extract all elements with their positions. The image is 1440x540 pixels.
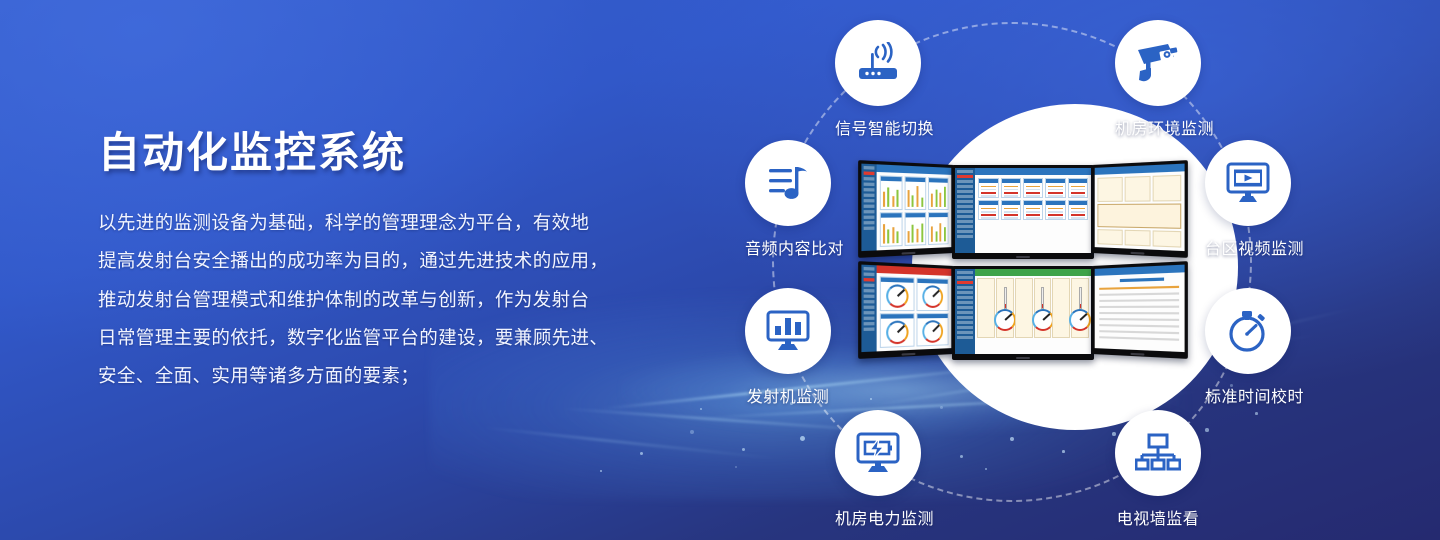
sensor-label — [1015, 278, 1033, 338]
sidebar-tick — [957, 316, 973, 319]
monitor-top-center — [952, 165, 1094, 259]
gauge-card — [879, 313, 914, 348]
sidebar-tick — [957, 326, 973, 329]
sidebar-tick — [957, 185, 973, 188]
status-card — [1001, 200, 1021, 220]
monitor-screen — [955, 269, 1091, 354]
flow-node — [1097, 177, 1122, 202]
screen-sidebar — [955, 168, 975, 253]
sidebar-tick — [957, 286, 973, 289]
description-line: 安全、全面、实用等诸多方面的要素； — [98, 357, 708, 395]
sidebar-tick — [864, 322, 874, 325]
sidebar-tick — [957, 225, 973, 228]
background-particle — [690, 430, 694, 434]
gauge-dial — [922, 320, 943, 343]
sidebar-tick — [957, 230, 973, 233]
hero-text-column: 自动化监控系统 以先进的监测设备为基础，科学的管理理念为平台，有效地 提高发射台… — [98, 130, 708, 396]
sidebar-tick — [957, 220, 973, 223]
feature-icon-circle[interactable] — [835, 20, 921, 106]
sidebar-tick — [957, 195, 973, 198]
status-card — [1045, 178, 1065, 198]
thermometer-icon — [1041, 287, 1044, 309]
screen-body — [876, 172, 951, 251]
monitor-stand — [902, 353, 916, 356]
feature-item-area-video[interactable]: 台区视频监测 — [1205, 140, 1291, 259]
monitor-top-left — [858, 160, 954, 258]
stopwatch-icon — [1225, 308, 1271, 354]
sidebar-tick — [864, 300, 874, 303]
feature-icon-circle[interactable] — [1205, 140, 1291, 226]
page-title: 自动化监控系统 — [98, 130, 708, 176]
flow-node — [1124, 230, 1151, 246]
gauge-dial — [922, 285, 943, 308]
hero-description: 以先进的监测设备为基础，科学的管理理念为平台，有效地 提高发射台安全播出的成功率… — [98, 204, 708, 395]
status-card — [1001, 178, 1021, 198]
monitor-screen — [861, 265, 951, 352]
screen-body — [975, 276, 1091, 354]
status-card — [1068, 200, 1088, 220]
sidebar-tick — [864, 306, 874, 309]
sidebar-tick — [957, 175, 973, 178]
background-particle — [640, 452, 643, 455]
chart-grid — [876, 172, 951, 251]
gauge-dial — [1069, 309, 1091, 331]
video-monitor-icon — [1225, 161, 1271, 205]
sensor-column — [996, 278, 1014, 338]
gauge-dial — [994, 309, 1016, 331]
sidebar-tick — [957, 321, 973, 324]
chart-card — [879, 175, 902, 210]
monitor-top-right — [1092, 160, 1188, 258]
sidebar-tick — [864, 171, 874, 175]
feature-label: 音频内容比对 — [745, 235, 831, 259]
sensor-panel — [975, 276, 1091, 340]
screen-body — [1095, 272, 1185, 352]
sidebar-tick — [864, 177, 874, 181]
sidebar-tick — [864, 166, 874, 170]
sidebar-tick — [957, 200, 973, 203]
sidebar-tick — [864, 327, 874, 331]
sensor-label — [977, 278, 995, 338]
cctv-camera-icon — [1134, 41, 1182, 85]
status-card — [1068, 178, 1088, 198]
screen-body — [1095, 171, 1185, 251]
status-card — [1023, 178, 1043, 198]
sidebar-tick — [864, 210, 874, 213]
report-table — [1095, 272, 1185, 345]
sidebar-tick — [957, 271, 973, 274]
sidebar-tick — [864, 283, 874, 287]
sidebar-tick — [864, 199, 874, 202]
chart-card — [904, 176, 926, 210]
gauge-card — [916, 313, 948, 347]
monitor-bottom-right — [1092, 261, 1188, 359]
status-card — [1023, 200, 1043, 220]
sidebar-tick — [957, 190, 973, 193]
feature-label: 电视墙监看 — [1115, 505, 1201, 529]
sidebar-tick — [957, 331, 973, 334]
status-card — [978, 178, 998, 198]
background-particle — [600, 470, 602, 472]
screen-body — [975, 175, 1091, 253]
sidebar-tick — [957, 210, 973, 213]
chart-card — [928, 212, 949, 245]
description-line: 提高发射台安全播出的成功率为目的，通过先进技术的应用， — [98, 242, 708, 280]
flow-canvas — [1097, 203, 1181, 229]
feature-item-audio-compare[interactable]: 音频内容比对 — [745, 140, 831, 259]
description-line: 推动发射台管理模式和维护体制的改革与创新，作为发射台 — [98, 281, 708, 319]
sidebar-tick — [957, 291, 973, 294]
sensor-column — [1071, 278, 1089, 338]
sidebar-tick — [957, 205, 973, 208]
thermometer-icon — [1079, 287, 1082, 309]
feature-label: 机房电力监测 — [835, 505, 921, 529]
monitor-stand — [1130, 252, 1144, 255]
flow-node — [1153, 175, 1181, 201]
feature-item-room-power[interactable]: 机房电力监测 — [835, 410, 921, 529]
feature-item-signal-switch[interactable]: 信号智能切换 — [835, 20, 921, 139]
feature-icon-circle[interactable] — [1205, 288, 1291, 374]
sidebar-tick — [864, 226, 874, 230]
monitor-screen — [1095, 164, 1185, 251]
chart-card — [879, 212, 902, 247]
monitor-stand — [1016, 256, 1030, 258]
chart-card — [904, 212, 926, 246]
sidebar-tick — [957, 235, 973, 238]
description-line: 日常管理主要的依托，数字化监管平台的建设，要兼顾先进、 — [98, 319, 708, 357]
wireless-router-icon — [855, 42, 901, 84]
status-card — [978, 200, 998, 220]
sidebar-tick — [864, 272, 874, 276]
sidebar-tick — [864, 317, 874, 320]
chart-card — [928, 177, 949, 210]
device-status-grid — [975, 175, 1091, 223]
description-line: 以先进的监测设备为基础，科学的管理理念为平台，有效地 — [98, 204, 708, 242]
sidebar-tick — [864, 295, 874, 298]
sidebar-tick — [864, 216, 874, 219]
feature-icon-circle[interactable] — [745, 140, 831, 226]
gauge-dial — [886, 320, 908, 344]
feature-item-room-environment[interactable]: 机房环境监测 — [1115, 20, 1201, 139]
video-wall-row-top — [858, 165, 1188, 259]
status-card — [1045, 200, 1065, 220]
feature-label: 标准时间校时 — [1205, 383, 1291, 407]
feature-icon-circle[interactable] — [1115, 410, 1201, 496]
gauge-card — [879, 276, 914, 311]
sidebar-tick — [864, 278, 874, 282]
monitor-stand — [1016, 357, 1030, 359]
screen-body — [876, 273, 951, 352]
screen-sidebar — [861, 164, 876, 251]
power-monitor-icon — [855, 431, 901, 475]
feature-label: 机房环境监测 — [1115, 115, 1201, 139]
sidebar-tick — [957, 281, 973, 284]
sidebar-tick — [957, 311, 973, 314]
monitor-screen — [861, 164, 951, 251]
screen-titlebar — [975, 168, 1091, 175]
feature-item-transmitter-monitor[interactable]: 发射机监测 — [745, 288, 831, 407]
sidebar-tick — [957, 306, 973, 309]
sidebar-tick — [864, 188, 874, 192]
sidebar-tick — [957, 215, 973, 218]
thermometer-icon — [1004, 287, 1007, 309]
feature-label: 发射机监测 — [745, 383, 831, 407]
feature-icon-circle[interactable] — [745, 288, 831, 374]
sensor-column — [1034, 278, 1052, 338]
flow-diagram — [1095, 171, 1185, 251]
feature-wheel: 信号智能切换 机房环境监测 — [700, 0, 1440, 540]
bar-chart-monitor-icon — [765, 309, 811, 353]
music-note-icon — [766, 161, 810, 205]
sidebar-tick — [957, 296, 973, 299]
screen-sidebar — [955, 269, 975, 354]
screen-sidebar — [861, 265, 876, 352]
sidebar-tick — [957, 170, 973, 173]
feature-label: 信号智能切换 — [835, 115, 921, 139]
feature-icon-circle[interactable] — [1115, 20, 1201, 106]
sensor-label — [1052, 278, 1070, 338]
sidebar-tick — [957, 180, 973, 183]
sidebar-tick — [957, 336, 973, 339]
video-wall-illustration — [858, 165, 1188, 360]
feature-icon-circle[interactable] — [835, 410, 921, 496]
flow-node — [1124, 176, 1151, 202]
monitor-stand — [1130, 353, 1144, 356]
monitor-screen — [1095, 265, 1185, 352]
sidebar-tick — [864, 267, 874, 271]
network-hierarchy-icon — [1135, 433, 1181, 473]
gauge-card — [916, 278, 948, 311]
sidebar-tick — [864, 311, 874, 314]
gauge-dial — [1032, 309, 1054, 331]
hero-banner: 自动化监控系统 以先进的监测设备为基础，科学的管理理念为平台，有效地 提高发射台… — [0, 0, 1440, 540]
feature-item-time-sync[interactable]: 标准时间校时 — [1205, 288, 1291, 407]
video-wall-row-bottom — [858, 266, 1188, 360]
feature-label: 台区视频监测 — [1205, 235, 1291, 259]
feature-item-tv-wall[interactable]: 电视墙监看 — [1115, 410, 1201, 529]
flow-node — [1153, 231, 1181, 248]
sidebar-tick — [864, 289, 874, 293]
sidebar-tick — [957, 276, 973, 279]
sidebar-tick — [864, 205, 874, 208]
gauge-grid — [876, 273, 951, 352]
sidebar-tick — [957, 301, 973, 304]
monitor-bottom-center — [952, 266, 1094, 360]
sidebar-tick — [864, 182, 874, 186]
monitor-stand — [902, 252, 916, 255]
monitor-bottom-left — [858, 261, 954, 359]
flow-node — [1097, 230, 1122, 246]
sidebar-tick — [864, 221, 874, 224]
sidebar-tick — [864, 194, 874, 197]
screen-titlebar — [975, 269, 1091, 276]
monitor-screen — [955, 168, 1091, 253]
gauge-dial — [886, 284, 908, 308]
